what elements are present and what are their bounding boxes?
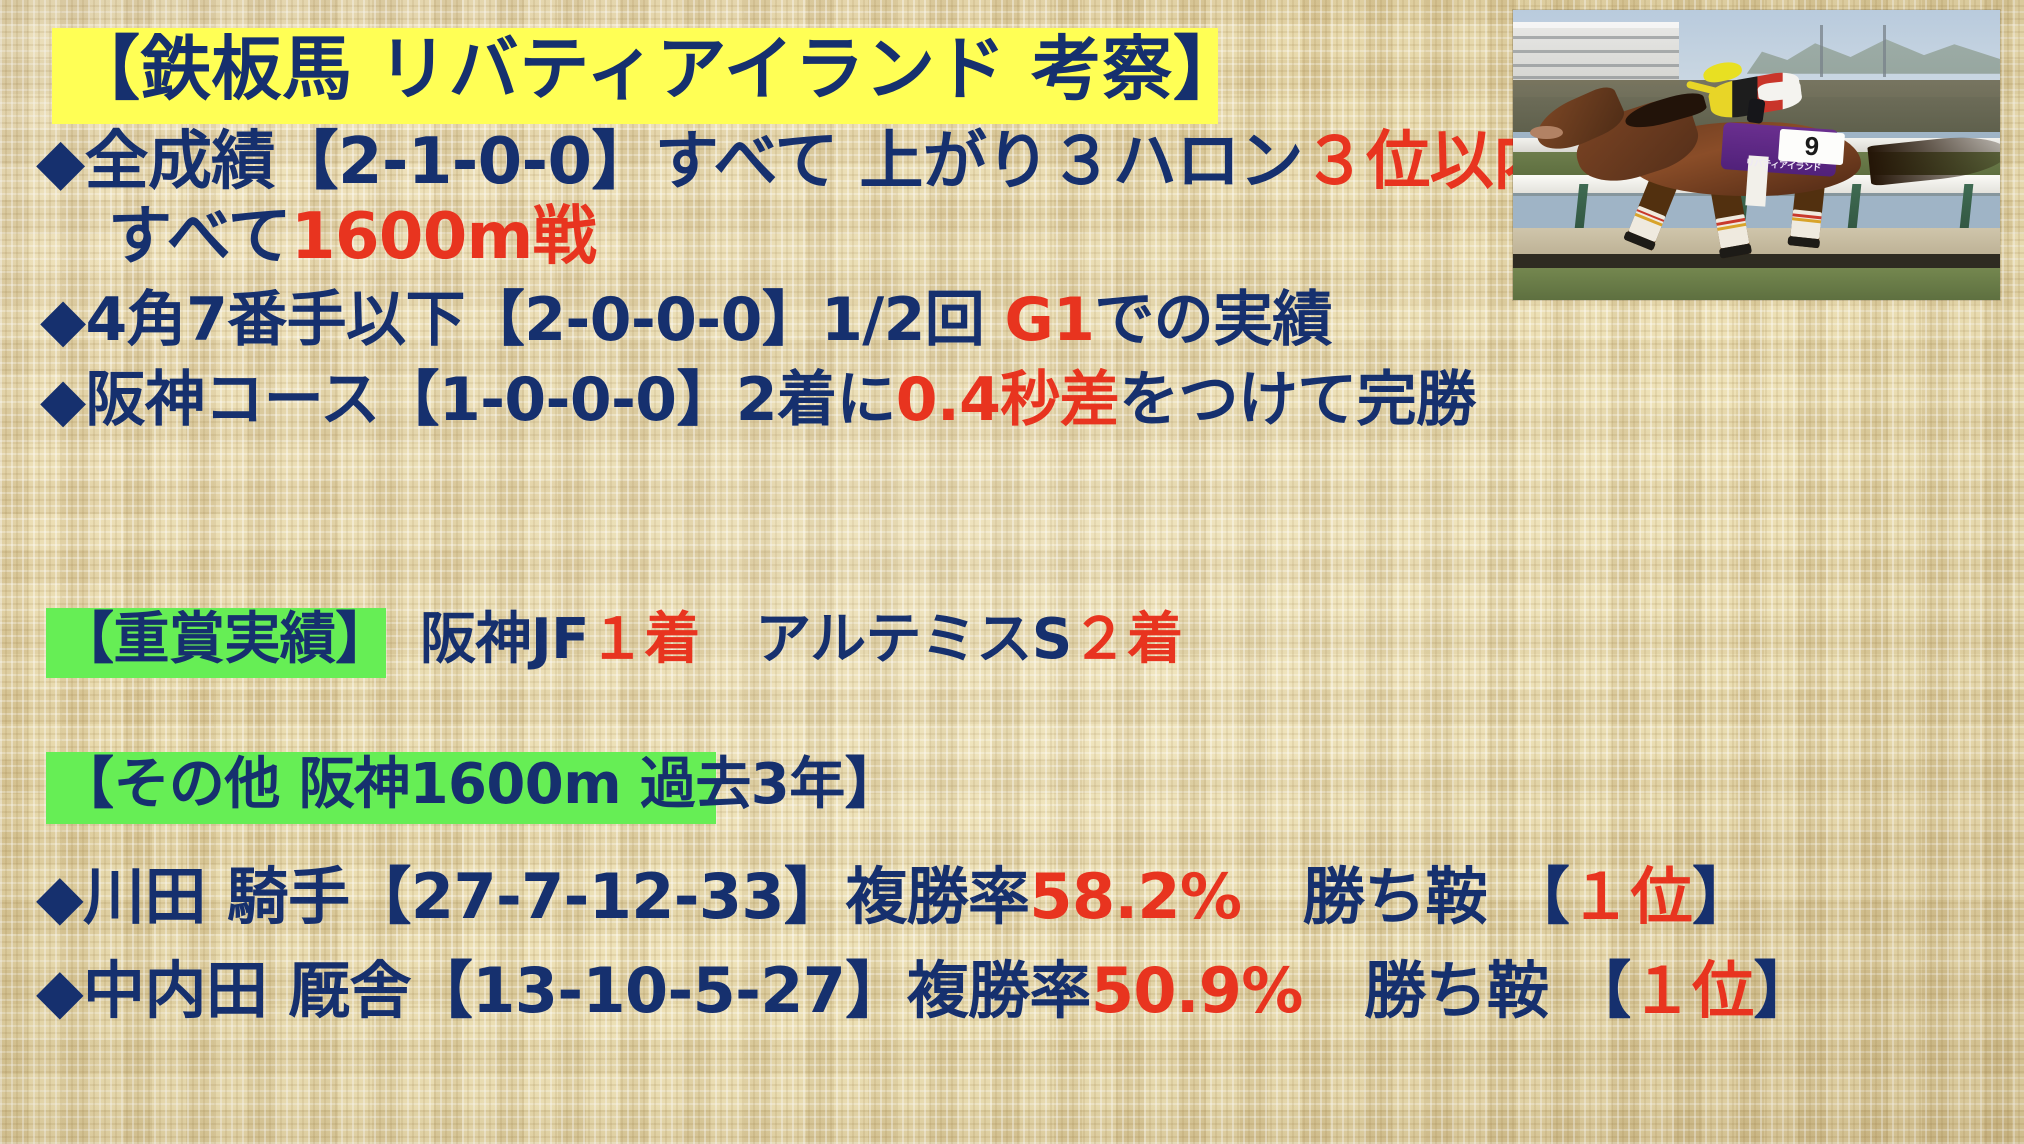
overall-record-text: ◆全成績【2-1-0-0】すべて 上がり３ハロン [36, 125, 1303, 199]
corner-position-tail: での実績 [1094, 285, 1332, 355]
line-distance-note: すべて1600m戦 [108, 205, 596, 269]
line-trainer-stats: ◆中内田 厩舎【13-10-5-27】複勝率50.9% 勝ち鞍 【１位】 [36, 960, 1815, 1022]
hanshin-course-tail: をつけて完勝 [1119, 365, 1475, 435]
hanshin-course-text: ◆阪神コース【1-0-0-0】2着に [40, 365, 896, 435]
jockey-wins-label: 勝ち鞍 【 [1241, 860, 1569, 933]
line-graded-results: 阪神JF１着 アルテミスS２着 [420, 612, 1183, 668]
photo-horse-leg [1624, 178, 1676, 251]
corner-position-text: ◆4角7番手以下【2-0-0-0】1/2回 [40, 285, 1004, 355]
trainer-wins-rank: １位 [1631, 954, 1754, 1027]
photo-pylon-icon [1883, 25, 1886, 77]
graded-race-2-name: アルテミスS [755, 607, 1071, 672]
trainer-place-rate: 50.9% [1091, 954, 1303, 1027]
photo-jockey [1673, 62, 1837, 133]
graded-race-1-place: １着 [589, 607, 700, 672]
jockey-wins-rank: １位 [1569, 860, 1692, 933]
page-title: 【鉄板馬 リバティアイランド 考察】 [70, 34, 1244, 104]
graded-race-1-name: 阪神JF [420, 607, 589, 672]
jockey-place-rate: 58.2% [1029, 860, 1241, 933]
photo-grandstand-building [1513, 22, 1679, 86]
graded-race-2-place: ２着 [1072, 607, 1183, 672]
distance-note-highlight: 1600m戦 [291, 200, 596, 274]
hanshin-course-margin: 0.4秒差 [896, 365, 1119, 435]
other-stats-label: 【その他 阪神1600m 過去3年】 [58, 757, 900, 813]
jockey-stats-text: ◆川田 騎手【27-7-12-33】複勝率 [36, 860, 1029, 933]
line-overall-record: ◆全成績【2-1-0-0】すべて 上がり３ハロン３位以内 [36, 130, 1556, 194]
corner-position-grade: G1 [1004, 285, 1094, 355]
distance-note-text: すべて [108, 200, 291, 274]
line-hanshin-course: ◆阪神コース【1-0-0-0】2着に0.4秒差をつけて完勝 [40, 370, 1476, 430]
photo-horse-sock [1790, 209, 1821, 239]
photo-near-turf [1513, 268, 2000, 300]
photo-jockey-boot [1747, 98, 1767, 124]
racehorse-photo: 9 リバティアイランド [1513, 10, 2000, 300]
photo-horse: 9 リバティアイランド [1542, 85, 1951, 253]
slide-canvas: 【鉄板馬 リバティアイランド 考察】 ◆全成績【2-1-0-0】すべて 上がり３… [0, 0, 2024, 1144]
jockey-wins-bracket-close: 】 [1692, 860, 1753, 933]
photo-horse-muzzle [1530, 126, 1563, 139]
trainer-stats-text: ◆中内田 厩舎【13-10-5-27】複勝率 [36, 954, 1091, 1027]
graded-record-label: 【重賞実績】 [58, 612, 391, 668]
line-jockey-stats: ◆川田 騎手【27-7-12-33】複勝率58.2% 勝ち鞍 【１位】 [36, 866, 1753, 928]
trainer-wins-bracket-close: 】 [1753, 954, 1814, 1027]
graded-results-gap [700, 607, 755, 672]
trainer-wins-label: 勝ち鞍 【 [1303, 954, 1631, 1027]
line-corner-position: ◆4角7番手以下【2-0-0-0】1/2回 G1での実績 [40, 290, 1332, 350]
